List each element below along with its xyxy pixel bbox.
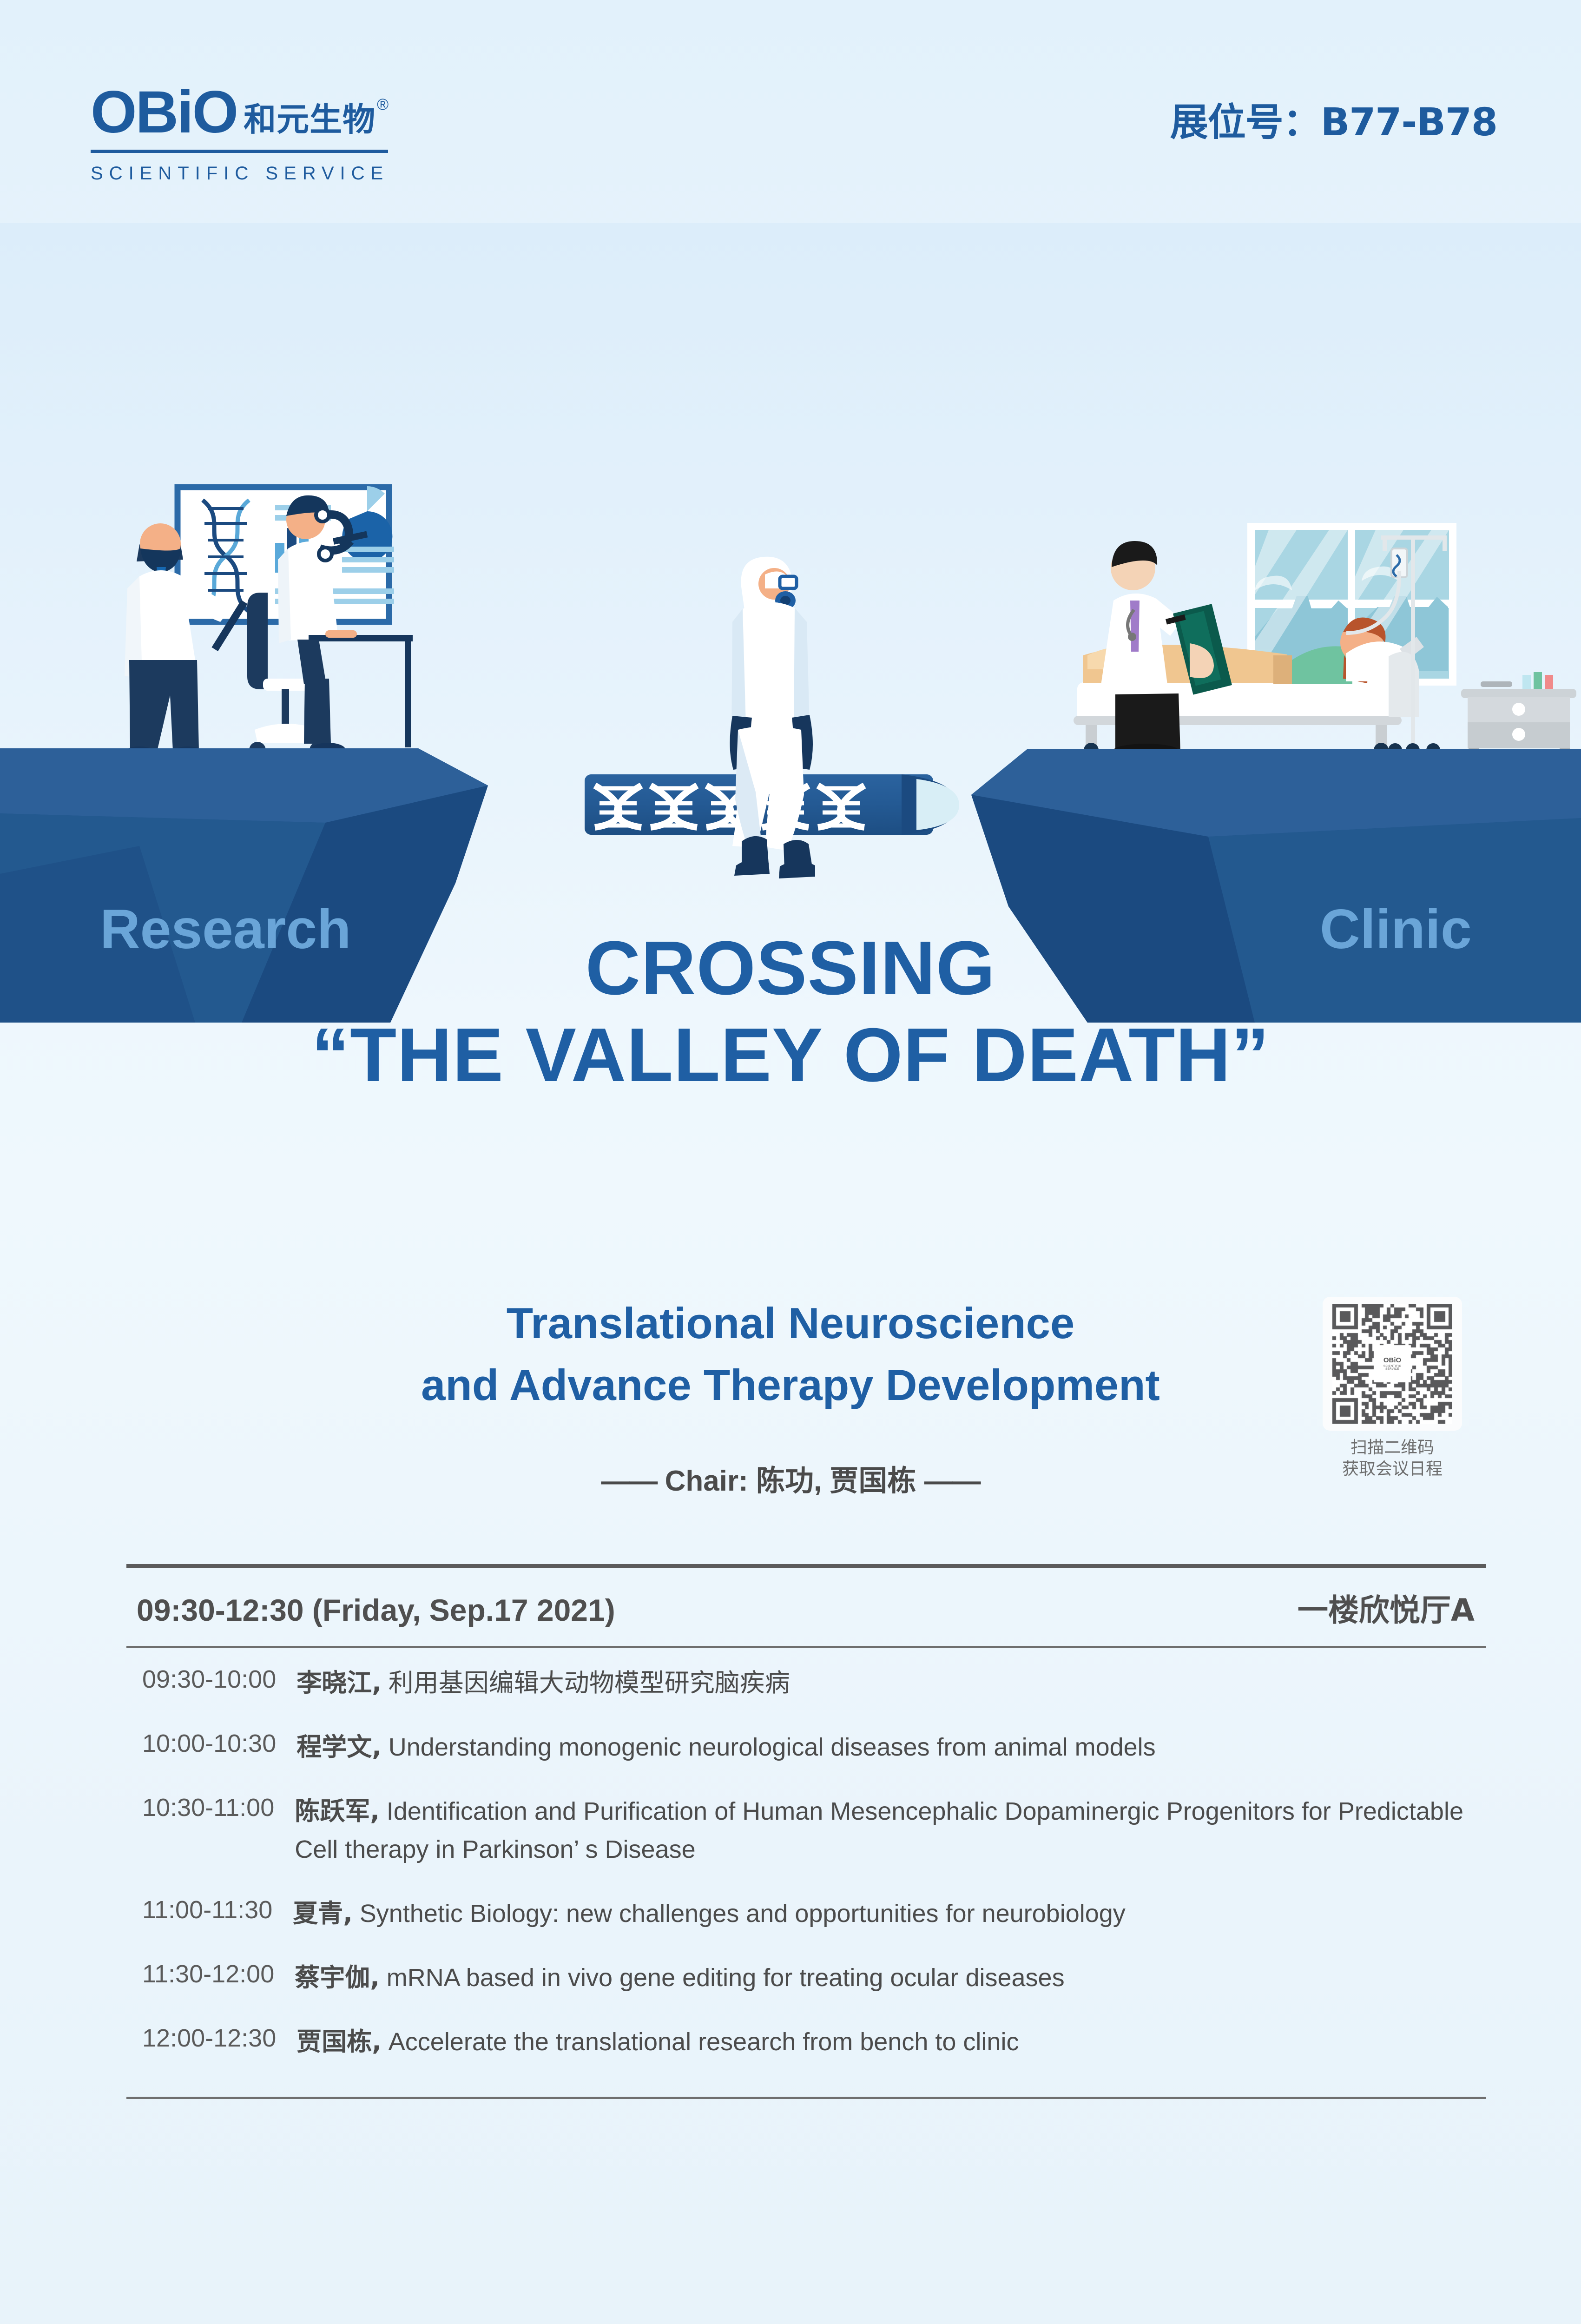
title-line-2: “THE VALLEY OF DEATH” xyxy=(0,1012,1581,1099)
title-line-1: CROSSING xyxy=(0,925,1581,1012)
row-topic: 夏青, Synthetic Biology: new challenges an… xyxy=(293,1895,1126,1933)
qr-caption-line-1: 扫描二维码 xyxy=(1323,1437,1462,1459)
table-row: 11:00-11:30夏青, Synthetic Biology: new ch… xyxy=(126,1895,1486,1933)
qr-logo-text: OBiO xyxy=(1383,1357,1401,1364)
qr-code-icon[interactable]: OBiO SCIENTIFIC SERVICE xyxy=(1332,1304,1452,1424)
table-row: 12:00-12:30贾国栋, Accelerate the translati… xyxy=(126,2023,1486,2061)
row-topic: 程学文, Understanding monogenic neurologica… xyxy=(296,1728,1155,1766)
qr-card[interactable]: OBiO SCIENTIFIC SERVICE xyxy=(1323,1297,1462,1431)
chair-dash-left: —— xyxy=(601,1465,657,1497)
row-time: 10:30-11:00 xyxy=(142,1792,274,1822)
table-row: 11:30-12:00蔡宇伽, mRNA based in vivo gene … xyxy=(126,1959,1486,1997)
page-title: CROSSING “THE VALLEY OF DEATH” xyxy=(0,925,1581,1099)
row-title: Understanding monogenic neurological dis… xyxy=(382,1733,1156,1761)
row-time: 11:30-12:00 xyxy=(142,1959,274,1988)
schedule-venue: 一楼欣悦厅A xyxy=(1298,1585,1479,1630)
qr-caption: 扫描二维码 获取会议日程 xyxy=(1323,1437,1462,1480)
row-time: 10:00-10:30 xyxy=(142,1728,276,1758)
row-time: 09:30-10:00 xyxy=(142,1664,276,1694)
row-speaker: 程学文, xyxy=(296,1732,382,1762)
registered-trademark-icon: ® xyxy=(377,96,389,114)
row-speaker: 蔡宇伽, xyxy=(295,1963,380,1992)
qr-center-logo: OBiO SCIENTIFIC SERVICE xyxy=(1378,1349,1407,1378)
row-title: Synthetic Biology: new challenges and op… xyxy=(353,1900,1126,1928)
row-speaker: 李晓江, xyxy=(296,1668,382,1697)
booth-number: 展位号：B77-B78 xyxy=(1170,91,1497,146)
row-title: 利用基因编辑大动物模型研究脑疾病 xyxy=(382,1669,790,1697)
table-row: 10:30-11:00陈跃军, Identification and Purif… xyxy=(126,1792,1486,1868)
poster-root: OBiO 和元生物 ® SCIENTIFIC SERVICE 展位号：B77-B… xyxy=(0,0,1581,2324)
brand-logo: OBiO 和元生物 ® SCIENTIFIC SERVICE xyxy=(91,83,397,184)
row-speaker: 贾国栋, xyxy=(296,2027,382,2056)
row-topic: 贾国栋, Accelerate the translational resear… xyxy=(296,2023,1019,2061)
schedule-table: 09:30-12:30 (Friday, Sep.17 2021) 一楼欣悦厅A… xyxy=(126,1564,1486,2099)
schedule-top-rule xyxy=(126,1564,1486,1568)
schedule-header-row: 09:30-12:30 (Friday, Sep.17 2021) 一楼欣悦厅A xyxy=(126,1568,1486,1646)
row-topic: 李晓江, 利用基因编辑大动物模型研究脑疾病 xyxy=(296,1664,790,1702)
row-title: Identification and Purification of Human… xyxy=(295,1797,1463,1863)
table-row: 09:30-10:00李晓江, 利用基因编辑大动物模型研究脑疾病 xyxy=(126,1664,1486,1702)
row-speaker: 夏青, xyxy=(293,1899,353,1928)
obio-chinese-name: 和元生物 xyxy=(244,103,375,136)
obio-wordmark: OBiO xyxy=(91,83,237,142)
row-time: 12:00-12:30 xyxy=(142,2023,276,2053)
qr-logo-subtext: SCIENTIFIC SERVICE xyxy=(1378,1365,1407,1371)
valley-of-death-illustration: Research xyxy=(0,223,1581,1023)
logo-top-row: OBiO 和元生物 ® xyxy=(91,83,397,142)
row-topic: 陈跃军, Identification and Purification of … xyxy=(295,1792,1486,1868)
schedule-time-range: 09:30-12:30 (Friday, Sep.17 2021) xyxy=(137,1592,615,1628)
qr-block[interactable]: OBiO SCIENTIFIC SERVICE 扫描二维码 获取会议日程 xyxy=(1323,1297,1462,1480)
logo-divider xyxy=(91,150,388,153)
chair-names: Chair: 陈功, 贾国栋 xyxy=(665,1465,916,1497)
table-row: 10:00-10:30程学文, Understanding monogenic … xyxy=(126,1728,1486,1766)
row-speaker: 陈跃军, xyxy=(295,1796,380,1826)
row-time: 11:00-11:30 xyxy=(142,1895,272,1924)
row-title: Accelerate the translational research fr… xyxy=(382,2028,1019,2056)
logo-tagline: SCIENTIFIC SERVICE xyxy=(91,163,397,184)
schedule-bottom-rule xyxy=(126,2097,1486,2099)
row-title: mRNA based in vivo gene editing for trea… xyxy=(380,1964,1065,1992)
qr-caption-line-2: 获取会议日程 xyxy=(1323,1459,1462,1480)
chair-dash-right: —— xyxy=(924,1465,980,1497)
schedule-rows: 09:30-10:00李晓江, 利用基因编辑大动物模型研究脑疾病10:00-10… xyxy=(126,1648,1486,2097)
row-topic: 蔡宇伽, mRNA based in vivo gene editing for… xyxy=(295,1959,1064,1997)
